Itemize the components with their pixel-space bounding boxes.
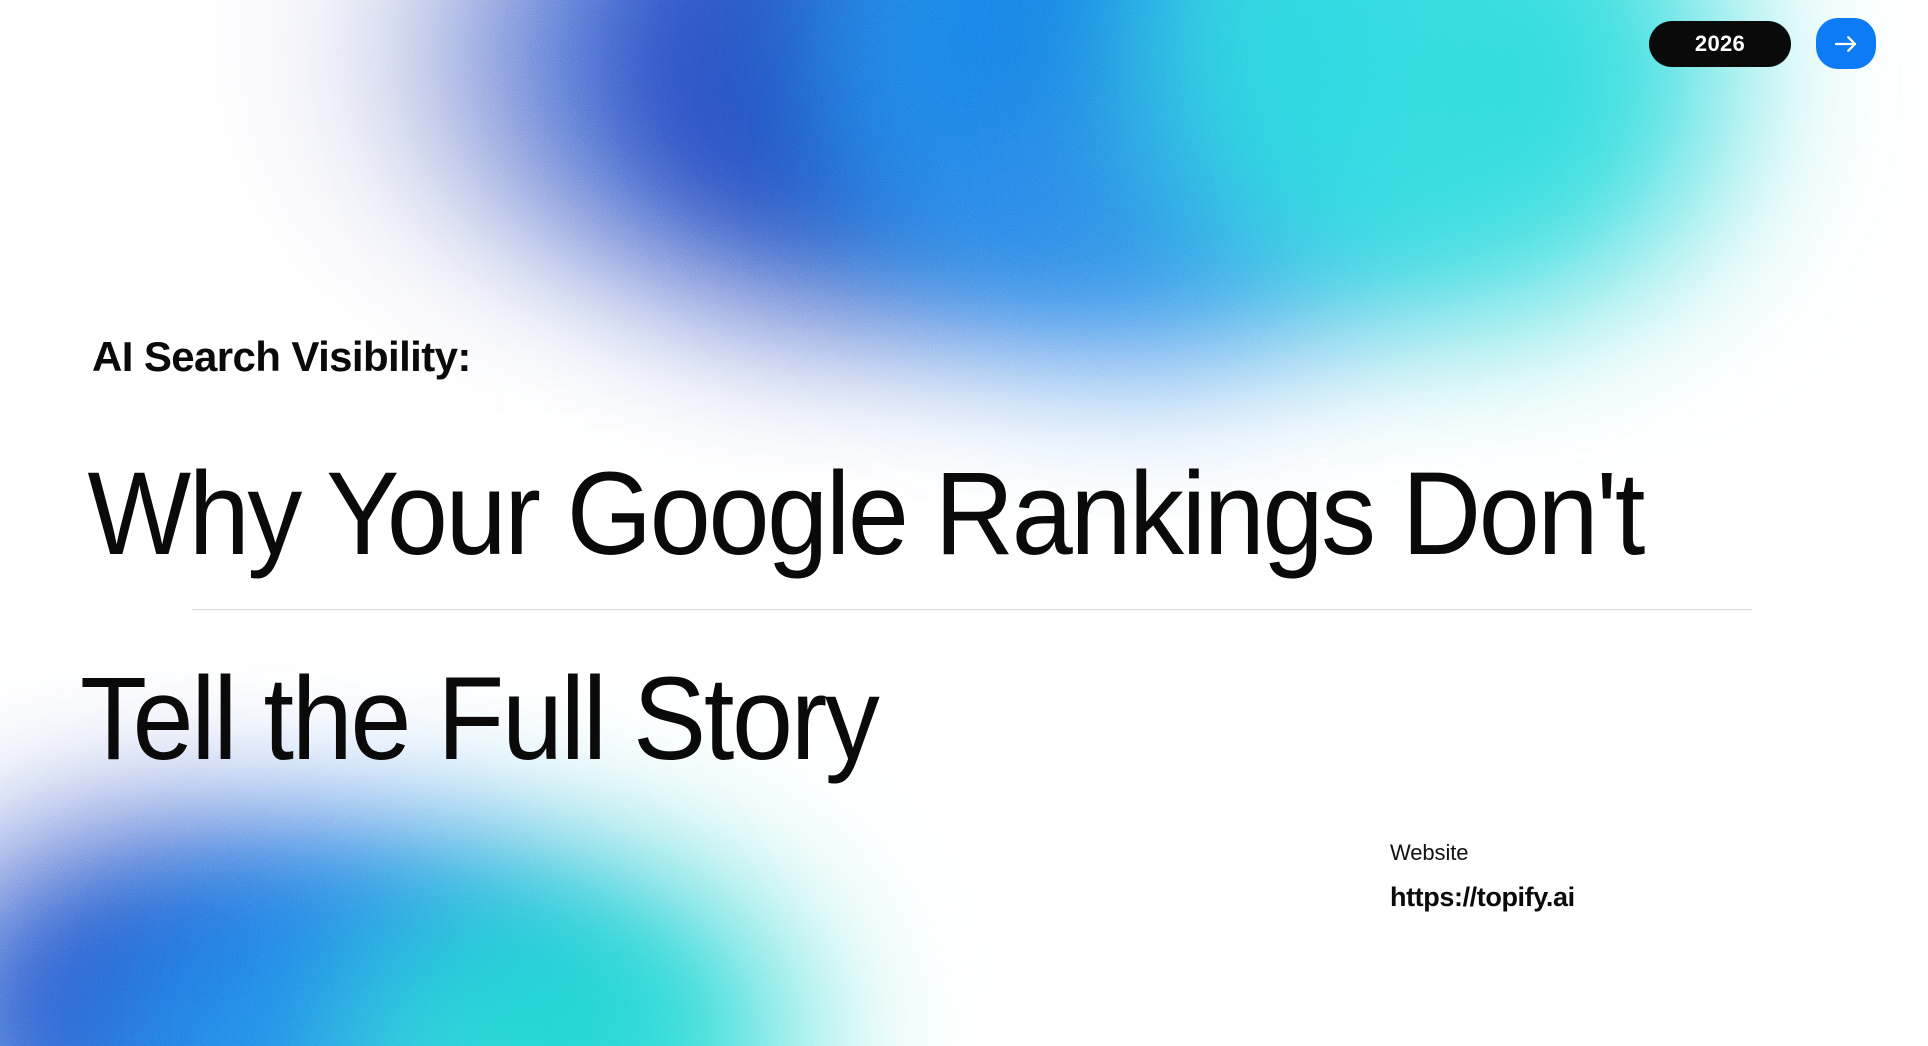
gradient-blob-top-blue	[790, 0, 1490, 350]
website-label: Website	[1390, 840, 1575, 866]
headline-line-2: Tell the Full Story	[80, 660, 1745, 778]
gradient-blob-bottom-mid	[210, 890, 590, 1046]
page-title: Why Your Google Rankings Don't Tell the …	[80, 455, 1870, 778]
gradient-blob-top-lilac	[300, 0, 800, 260]
gradient-blob-top-cyan	[1130, 0, 1730, 320]
gradient-blob-bottom-blue	[80, 840, 640, 1046]
cover-slide: 2026 AI Search Visibility: Why Your Goog…	[0, 0, 1928, 1046]
website-block: Website https://topify.ai	[1390, 840, 1575, 913]
next-slide-button[interactable]	[1816, 18, 1876, 69]
top-controls: 2026	[1649, 18, 1876, 69]
year-badge[interactable]: 2026	[1649, 21, 1791, 67]
website-url[interactable]: https://topify.ai	[1390, 882, 1575, 913]
arrow-right-icon	[1831, 29, 1861, 59]
headline-line-1: Why Your Google Rankings Don't	[80, 455, 1745, 573]
headline-divider	[192, 609, 1752, 610]
gradient-blob-bottom-indigo	[0, 830, 400, 1046]
gradient-blob-top-indigo	[480, 0, 1200, 320]
gradient-blob-top-tail	[880, 60, 1400, 360]
gradient-blob-bottom-teal	[330, 860, 830, 1046]
eyebrow-text: AI Search Visibility:	[92, 333, 471, 381]
